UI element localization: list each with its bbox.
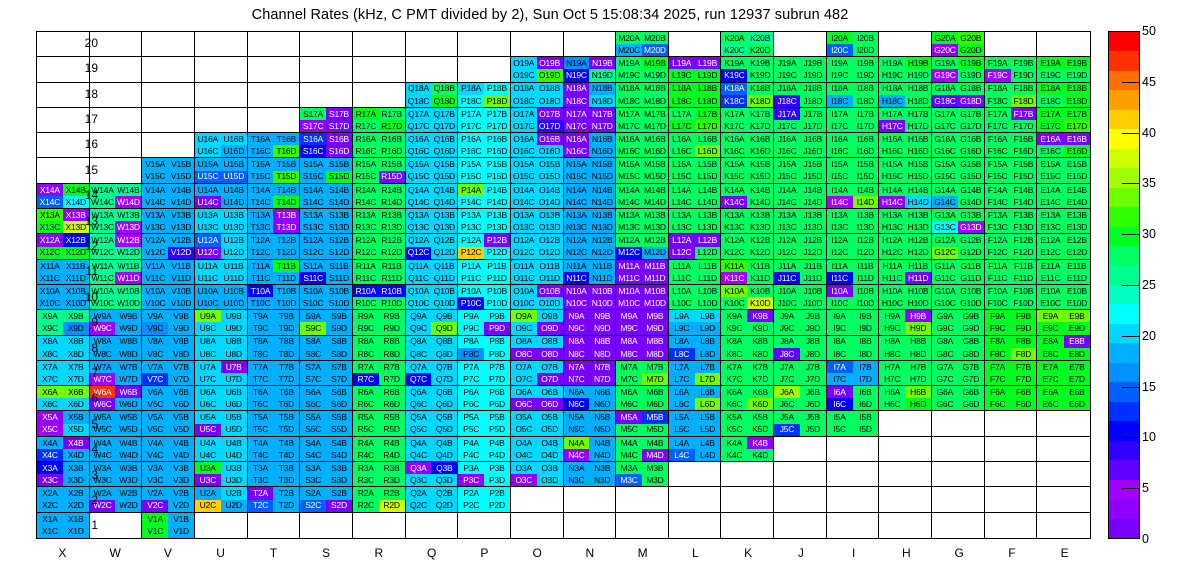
heatmap-cell-I19: I19AI19BI19CI19D xyxy=(827,57,880,82)
heatmap-cell-M3: M3AM3BM3CM3D xyxy=(616,462,669,487)
channel-V11A: V11A xyxy=(142,260,168,272)
channel-N12A: N12A xyxy=(564,234,590,246)
heatmap-cell-N1 xyxy=(564,513,617,538)
channel-T6A: T6A xyxy=(248,386,274,398)
channel-R15D: R15D xyxy=(379,171,405,183)
channel-F16B: F16B xyxy=(1011,133,1037,145)
channel-T3D: T3D xyxy=(273,474,299,486)
heatmap-cell-S14: S14AS14BS14CS14D xyxy=(300,184,353,209)
channel-V10A: V10A xyxy=(142,285,168,297)
y-tick-20: 20 xyxy=(68,36,98,50)
channel-J5C: J5C xyxy=(774,424,800,436)
channel-E10B: E10B xyxy=(1064,285,1090,297)
heatmap-cell-O2 xyxy=(511,487,564,512)
channel-Q10C: Q10C xyxy=(406,297,432,309)
channel-N18C: N18C xyxy=(564,95,590,107)
channel-L14B: L14B xyxy=(695,184,721,196)
channel-E16D: E16D xyxy=(1064,145,1090,157)
channel-R10B: R10B xyxy=(379,285,405,297)
channel-O3D: O3D xyxy=(537,474,563,486)
channel-Q6D: Q6D xyxy=(431,398,457,410)
channel-K7B: K7B xyxy=(747,361,773,373)
heatmap-cell-H18: H18AH18BH18CH18D xyxy=(879,83,932,108)
channel-R3B: R3B xyxy=(379,462,405,474)
channel-G19B: G19B xyxy=(958,57,984,69)
heatmap-cell-F17: F17AF17BF17CF17D xyxy=(985,108,1038,133)
channel-T4A: T4A xyxy=(248,437,274,449)
channel-S15A: S15A xyxy=(300,158,326,170)
channel-S5D: S5D xyxy=(326,424,352,436)
x-tick-E: E xyxy=(1035,546,1095,560)
heatmap-cell-T10: T10AT10BT10CT10D xyxy=(248,285,301,310)
channel-I11D: I11D xyxy=(853,272,879,284)
channel-I6B: I6B xyxy=(853,386,879,398)
channel-N14D: N14D xyxy=(589,196,615,208)
channel-S15C: S15C xyxy=(300,171,326,183)
heatmap-cell-T4: T4AT4BT4CT4D xyxy=(248,437,301,462)
channel-H18A: H18A xyxy=(879,83,905,95)
heatmap-cell-E3 xyxy=(1037,462,1090,487)
channel-S11A: S11A xyxy=(300,260,326,272)
channel-P18B: P18B xyxy=(484,83,510,95)
heatmap-cell-M5: M5AM5BM5CM5D xyxy=(616,411,669,436)
channel-X2A: X2A xyxy=(37,487,63,499)
channel-I7A: I7A xyxy=(827,361,853,373)
heatmap-cell-P12: P12AP12BP12CP12D xyxy=(458,234,511,259)
channel-K6D: K6D xyxy=(747,398,773,410)
channel-F13B: F13B xyxy=(1011,209,1037,221)
heatmap-cell-N18: N18AN18BN18CN18D xyxy=(564,83,617,108)
heatmap-cell-N8: N8AN8BN8CN8D xyxy=(564,336,617,361)
channel-U13D: U13D xyxy=(221,221,247,233)
channel-O11B: O11B xyxy=(537,260,563,272)
heatmap-cell-E15: E15AE15BE15CE15D xyxy=(1037,158,1090,183)
channel-S13C: S13C xyxy=(300,221,326,233)
heatmap-cell-K16: K16AK16BK16CK16D xyxy=(721,133,774,158)
channel-Q10A: Q10A xyxy=(406,285,432,297)
channel-G20A: G20A xyxy=(932,32,958,44)
channel-P5A: P5A xyxy=(458,411,484,423)
channel-X4C: X4C xyxy=(37,449,63,461)
channel-Q15B: Q15B xyxy=(431,158,457,170)
channel-E9A: E9A xyxy=(1037,310,1063,322)
heatmap-cell-S7: S7AS7BS7CS7D xyxy=(300,361,353,386)
heatmap-cell-R13: R13AR13BR13CR13D xyxy=(353,209,406,234)
channel-I8B: I8B xyxy=(853,336,879,348)
channel-G8C: G8C xyxy=(932,348,958,360)
channel-L6D: L6D xyxy=(695,398,721,410)
channel-J5D: J5D xyxy=(800,424,826,436)
channel-K10D: K10D xyxy=(747,297,773,309)
channel-M13D: M13D xyxy=(642,221,668,233)
heatmap-cell-L19: L19AL19BL19CL19D xyxy=(669,57,722,82)
channel-M7C: M7C xyxy=(616,373,642,385)
channel-L9D: L9D xyxy=(695,322,721,334)
heatmap-cell-L14: L14AL14BL14CL14D xyxy=(669,184,722,209)
heatmap-cell-E2 xyxy=(1037,487,1090,512)
channel-S12A: S12A xyxy=(300,234,326,246)
channel-R13D: R13D xyxy=(379,221,405,233)
channel-I19B: I19B xyxy=(853,57,879,69)
channel-V1B: V1B xyxy=(168,513,194,526)
channel-J18B: J18B xyxy=(800,83,826,95)
channel-F12D: F12D xyxy=(1011,247,1037,259)
channel-I17A: I17A xyxy=(827,108,853,120)
colorbar-tick-label-15: 15 xyxy=(1142,380,1156,394)
channel-P6C: P6C xyxy=(458,398,484,410)
channel-O10D: O10D xyxy=(537,297,563,309)
channel-O19A: O19A xyxy=(511,57,537,69)
heatmap-cell-M13: M13AM13BM13CM13D xyxy=(616,209,669,234)
channel-N6B: N6B xyxy=(589,386,615,398)
channel-J19C: J19C xyxy=(774,69,800,81)
channel-M10D: M10D xyxy=(642,297,668,309)
channel-J8B: J8B xyxy=(800,336,826,348)
channel-Q18D: Q18D xyxy=(431,95,457,107)
channel-R9B: R9B xyxy=(379,310,405,322)
channel-N13A: N13A xyxy=(564,209,590,221)
channel-L11D: L11D xyxy=(695,272,721,284)
channel-V6C: V6C xyxy=(142,398,168,410)
colorbar-tick-mark-10 xyxy=(1122,437,1140,438)
channel-W13B: W13B xyxy=(115,209,141,221)
channel-P9A: P9A xyxy=(458,310,484,322)
heatmap-cell-P11: P11AP11BP11CP11D xyxy=(458,260,511,285)
heatmap-cell-J15: J15AJ15BJ15CJ15D xyxy=(774,158,827,183)
heatmap-cell-V15: V15AV15BV15CV15D xyxy=(142,158,195,183)
channel-E17C: E17C xyxy=(1037,120,1063,132)
heatmap-cell-I18: I18AI18BI18CI18D xyxy=(827,83,880,108)
channel-I16A: I16A xyxy=(827,133,853,145)
heatmap-cell-J13: J13AJ13BJ13CJ13D xyxy=(774,209,827,234)
channel-G12B: G12B xyxy=(958,234,984,246)
channel-T9C: T9C xyxy=(248,322,274,334)
channel-Q14D: Q14D xyxy=(431,196,457,208)
channel-M3C: M3C xyxy=(616,474,642,486)
channel-J12D: J12D xyxy=(800,247,826,259)
channel-M5D: M5D xyxy=(642,424,668,436)
channel-P3D: P3D xyxy=(484,474,510,486)
channel-P15B: P15B xyxy=(484,158,510,170)
channel-X7A: X7A xyxy=(37,361,63,373)
heatmap-cell-F20 xyxy=(985,32,1038,57)
channel-W11B: W11B xyxy=(115,260,141,272)
channel-W9D: W9D xyxy=(115,322,141,334)
heatmap-cell-E7: E7AE7BE7CE7D xyxy=(1037,361,1090,386)
heatmap-cell-V12: V12AV12BV12CV12D xyxy=(142,234,195,259)
channel-M10C: M10C xyxy=(616,297,642,309)
channel-J19D: J19D xyxy=(800,69,826,81)
colorbar-tick-mark-20 xyxy=(1122,336,1140,337)
channel-J14B: J14B xyxy=(800,184,826,196)
heatmap-cell-I5: I5AI5BI5CI5D xyxy=(827,411,880,436)
channel-H7D: H7D xyxy=(905,373,931,385)
channel-M9B: M9B xyxy=(642,310,668,322)
channel-V14C: V14C xyxy=(142,196,168,208)
channel-R6A: R6A xyxy=(353,386,379,398)
channel-P4C: P4C xyxy=(458,449,484,461)
channel-G9B: G9B xyxy=(958,310,984,322)
heatmap-cell-U1 xyxy=(195,513,248,538)
channel-V14D: V14D xyxy=(168,196,194,208)
channel-R14D: R14D xyxy=(379,196,405,208)
channel-T13D: T13D xyxy=(273,221,299,233)
colorbar-tick-mark-45 xyxy=(1122,82,1140,83)
channel-X8C: X8C xyxy=(37,348,63,360)
heatmap-cell-U12: U12AU12BU12CU12D xyxy=(195,234,248,259)
channel-U8B: U8B xyxy=(221,336,247,348)
channel-L19A: L19A xyxy=(669,57,695,69)
channel-Q4D: Q4D xyxy=(431,449,457,461)
channel-J7A: J7A xyxy=(774,361,800,373)
channel-M17A: M17A xyxy=(616,108,642,120)
channel-K12B: K12B xyxy=(747,234,773,246)
channel-Q16C: Q16C xyxy=(406,145,432,157)
channel-T14D: T14D xyxy=(273,196,299,208)
channel-J15D: J15D xyxy=(800,171,826,183)
channel-N6D: N6D xyxy=(589,398,615,410)
channel-O16B: O16B xyxy=(537,133,563,145)
heatmap-cell-L4: L4AL4BL4CL4D xyxy=(669,437,722,462)
channel-V1D: V1D xyxy=(168,525,194,538)
channel-I18A: I18A xyxy=(827,83,853,95)
channel-I6C: I6C xyxy=(827,398,853,410)
channel-U16C: U16C xyxy=(195,145,221,157)
channel-S14C: S14C xyxy=(300,196,326,208)
channel-H6D: H6D xyxy=(905,398,931,410)
channel-O12A: O12A xyxy=(511,234,537,246)
channel-I16D: I16D xyxy=(853,145,879,157)
channel-G10A: G10A xyxy=(932,285,958,297)
channel-E15A: E15A xyxy=(1037,158,1063,170)
channel-L17C: L17C xyxy=(669,120,695,132)
channel-K16B: K16B xyxy=(747,133,773,145)
channel-U13B: U13B xyxy=(221,209,247,221)
heatmap-cell-J20 xyxy=(774,32,827,57)
channel-O5C: O5C xyxy=(511,424,537,436)
channel-P14A: P14A xyxy=(458,184,484,196)
channel-V15B: V15B xyxy=(168,158,194,170)
channel-Q4B: Q4B xyxy=(431,437,457,449)
channel-H10C: H10C xyxy=(879,297,905,309)
channel-V4B: V4B xyxy=(168,437,194,449)
channel-N7B: N7B xyxy=(589,361,615,373)
channel-M11A: M11A xyxy=(616,260,642,272)
channel-J6A: J6A xyxy=(774,386,800,398)
heatmap-cell-N2 xyxy=(564,487,617,512)
heatmap-cell-T11: T11AT11BT11CT11D xyxy=(248,260,301,285)
channel-G7B: G7B xyxy=(958,361,984,373)
channel-P3A: P3A xyxy=(458,462,484,474)
channel-N17C: N17C xyxy=(564,120,590,132)
channel-M3D: M3D xyxy=(642,474,668,486)
heatmap-cell-P13: P13AP13BP13CP13D xyxy=(458,209,511,234)
channel-K19D: K19D xyxy=(747,69,773,81)
channel-K6A: K6A xyxy=(721,386,747,398)
channel-J18C: J18C xyxy=(774,95,800,107)
heatmap-cell-V18 xyxy=(142,83,195,108)
channel-K4A: K4A xyxy=(721,437,747,449)
channel-N5C: N5C xyxy=(564,424,590,436)
channel-T16B: T16B xyxy=(273,133,299,145)
heatmap-cell-V17 xyxy=(142,108,195,133)
heatmap-cell-P3: P3AP3BP3CP3D xyxy=(458,462,511,487)
channel-I7C: I7C xyxy=(827,373,853,385)
heatmap-grid: M20AM20BM20CM20DK20AK20BK20CK20DI20AI20B… xyxy=(37,32,1090,538)
channel-N19D: N19D xyxy=(589,69,615,81)
channel-G13D: G13D xyxy=(958,221,984,233)
channel-I20C: I20C xyxy=(827,44,853,56)
channel-M16A: M16A xyxy=(616,133,642,145)
heatmap-cell-N9: N9AN9BN9CN9D xyxy=(564,310,617,335)
channel-H10A: H10A xyxy=(879,285,905,297)
channel-P18A: P18A xyxy=(458,83,484,95)
heatmap-cell-K15: K15AK15BK15CK15D xyxy=(721,158,774,183)
channel-H15C: H15C xyxy=(879,171,905,183)
heatmap-cell-U10: U10AU10BU10CU10D xyxy=(195,285,248,310)
channel-I17D: I17D xyxy=(853,120,879,132)
heatmap-cell-M6: M6AM6BM6CM6D xyxy=(616,386,669,411)
channel-L14A: L14A xyxy=(669,184,695,196)
colorbar-tick-label-5: 5 xyxy=(1142,481,1149,495)
channel-N15D: N15D xyxy=(589,171,615,183)
channel-R6D: R6D xyxy=(379,398,405,410)
channel-T6D: T6D xyxy=(273,398,299,410)
channel-S12B: S12B xyxy=(326,234,352,246)
heatmap-cell-E16: E16AE16BE16CE16D xyxy=(1037,133,1090,158)
channel-X1C: X1C xyxy=(37,525,63,538)
channel-U16B: U16B xyxy=(221,133,247,145)
channel-K5D: K5D xyxy=(747,424,773,436)
channel-U2B: U2B xyxy=(221,487,247,499)
heatmap-cell-J8: J8AJ8BJ8CJ8D xyxy=(774,336,827,361)
channel-V8C: V8C xyxy=(142,348,168,360)
heatmap-cell-K3 xyxy=(721,462,774,487)
heatmap-cell-Q12: Q12AQ12BQ12CQ12D xyxy=(406,234,459,259)
heatmap-cell-R18 xyxy=(353,83,406,108)
channel-S16A: S16A xyxy=(300,133,326,145)
channel-I9B: I9B xyxy=(853,310,879,322)
channel-K9C: K9C xyxy=(721,322,747,334)
channel-M12D: M12D xyxy=(642,247,668,259)
channel-P12C: P12C xyxy=(458,247,484,259)
channel-T12B: T12B xyxy=(273,234,299,246)
channel-H16B: H16B xyxy=(905,133,931,145)
channel-Q8A: Q8A xyxy=(406,336,432,348)
channel-E9C: E9C xyxy=(1037,322,1063,334)
channel-O9A: O9A xyxy=(511,310,537,322)
channel-Q3C: Q3C xyxy=(406,474,432,486)
channel-K7C: K7C xyxy=(721,373,747,385)
channel-H14A: H14A xyxy=(879,184,905,196)
channel-J7C: J7C xyxy=(774,373,800,385)
channel-G8D: G8D xyxy=(958,348,984,360)
channel-G6B: G6B xyxy=(958,386,984,398)
channel-E18C: E18C xyxy=(1037,95,1063,107)
heatmap-cell-R4: R4AR4BR4CR4D xyxy=(353,437,406,462)
channel-V3A: V3A xyxy=(142,462,168,474)
channel-L5B: L5B xyxy=(695,411,721,423)
channel-O15A: O15A xyxy=(511,158,537,170)
channel-W2D: W2D xyxy=(115,500,141,512)
heatmap-cell-O10: O10AO10BO10CO10D xyxy=(511,285,564,310)
channel-O18D: O18D xyxy=(537,95,563,107)
channel-V15A: V15A xyxy=(142,158,168,170)
channel-E11D: E11D xyxy=(1064,272,1090,284)
channel-R10C: R10C xyxy=(353,297,379,309)
heatmap-cell-O20 xyxy=(511,32,564,57)
channel-U11C: U11C xyxy=(195,272,221,284)
channel-K11D: K11D xyxy=(747,272,773,284)
heatmap-cell-P9: P9AP9BP9CP9D xyxy=(458,310,511,335)
x-tick-T: T xyxy=(243,546,303,560)
channel-V3B: V3B xyxy=(168,462,194,474)
channel-J15A: J15A xyxy=(774,158,800,170)
channel-H19C: H19C xyxy=(879,69,905,81)
channel-L17A: L17A xyxy=(669,108,695,120)
heatmap-cell-S4: S4AS4BS4CS4D xyxy=(300,437,353,462)
channel-N12C: N12C xyxy=(564,247,590,259)
colorbar-tick-label-20: 20 xyxy=(1142,329,1156,343)
channel-F11A: F11A xyxy=(985,260,1011,272)
channel-U2D: U2D xyxy=(221,500,247,512)
heatmap-cell-E12: E12AE12BE12CE12D xyxy=(1037,234,1090,259)
channel-S3D: S3D xyxy=(326,474,352,486)
channel-T4C: T4C xyxy=(248,449,274,461)
heatmap-cell-H15: H15AH15BH15CH15D xyxy=(879,158,932,183)
channel-T11D: T11D xyxy=(273,272,299,284)
channel-E9B: E9B xyxy=(1064,310,1090,322)
channel-O12C: O12C xyxy=(511,247,537,259)
channel-L13B: L13B xyxy=(695,209,721,221)
heatmap-cell-G8: G8AG8BG8CG8D xyxy=(932,336,985,361)
channel-P13C: P13C xyxy=(458,221,484,233)
heatmap-cell-V19 xyxy=(142,57,195,82)
channel-F12B: F12B xyxy=(1011,234,1037,246)
channel-K18B: K18B xyxy=(747,83,773,95)
channel-F17A: F17A xyxy=(985,108,1011,120)
channel-E13C: E13C xyxy=(1037,221,1063,233)
y-tick-5: 5 xyxy=(68,417,98,431)
channel-U12D: U12D xyxy=(221,247,247,259)
channel-L13D: L13D xyxy=(695,221,721,233)
channel-Q9D: Q9D xyxy=(431,322,457,334)
channel-N17B: N17B xyxy=(589,108,615,120)
channel-M16C: M16C xyxy=(616,145,642,157)
channel-J16C: J16C xyxy=(774,145,800,157)
channel-R14C: R14C xyxy=(353,196,379,208)
heatmap-cell-P2: P2AP2BP2CP2D xyxy=(458,487,511,512)
channel-F11D: F11D xyxy=(1011,272,1037,284)
channel-S7C: S7C xyxy=(300,373,326,385)
heatmap-cell-G9: G9AG9BG9CG9D xyxy=(932,310,985,335)
heatmap-cell-R17: R17AR17BR17CR17D xyxy=(353,108,406,133)
channel-I15B: I15B xyxy=(853,158,879,170)
channel-Q6B: Q6B xyxy=(431,386,457,398)
channel-P9B: P9B xyxy=(484,310,510,322)
channel-Q5B: Q5B xyxy=(431,411,457,423)
heatmap-cell-I11: I11AI11BI11CI11D xyxy=(827,260,880,285)
channel-L7C: L7C xyxy=(669,373,695,385)
channel-V13B: V13B xyxy=(168,209,194,221)
heatmap-cell-Q17: Q17AQ17BQ17CQ17D xyxy=(406,108,459,133)
channel-M4D: M4D xyxy=(642,449,668,461)
channel-J17C: J17C xyxy=(774,120,800,132)
channel-Q7A: Q7A xyxy=(406,361,432,373)
channel-H10B: H10B xyxy=(905,285,931,297)
heatmap-cell-R12: R12AR12BR12CR12D xyxy=(353,234,406,259)
heatmap-cell-S5: S5AS5BS5CS5D xyxy=(300,411,353,436)
